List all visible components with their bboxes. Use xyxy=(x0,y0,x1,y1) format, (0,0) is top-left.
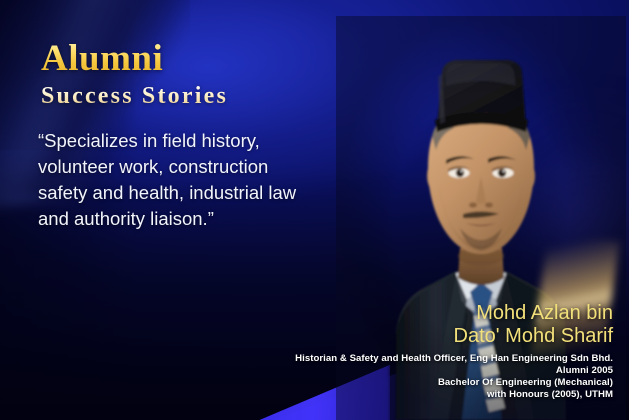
title-alumni: Alumni xyxy=(41,40,228,77)
person-credentials: Historian & Safety and Health Officer, E… xyxy=(193,353,613,401)
credential-line: Bachelor Of Engineering (Mechanical) xyxy=(193,377,613,389)
quote-line: and authority liaison.” xyxy=(38,206,358,232)
testimonial-quote: “Specializes in field history, volunteer… xyxy=(38,128,358,232)
title-success-stories: Success Stories xyxy=(41,84,228,108)
credential-line: Historian & Safety and Health Officer, E… xyxy=(193,353,613,365)
quote-line: safety and health, industrial law xyxy=(38,180,358,206)
person-name-line: Dato' Mohd Sharif xyxy=(193,325,613,348)
person-identity-block: Mohd Azlan bin Dato' Mohd Sharif Histori… xyxy=(193,302,613,401)
page-title: Alumni Success Stories xyxy=(41,40,228,108)
credential-line: Alumni 2005 xyxy=(193,365,613,377)
alumni-success-story-card: Alumni Success Stories “Specializes in f… xyxy=(0,0,629,420)
quote-line: “Specializes in field history, xyxy=(38,128,358,154)
person-name-line: Mohd Azlan bin xyxy=(193,302,613,325)
quote-line: volunteer work, construction xyxy=(38,154,358,180)
credential-line: with Honours (2005), UTHM xyxy=(193,389,613,401)
